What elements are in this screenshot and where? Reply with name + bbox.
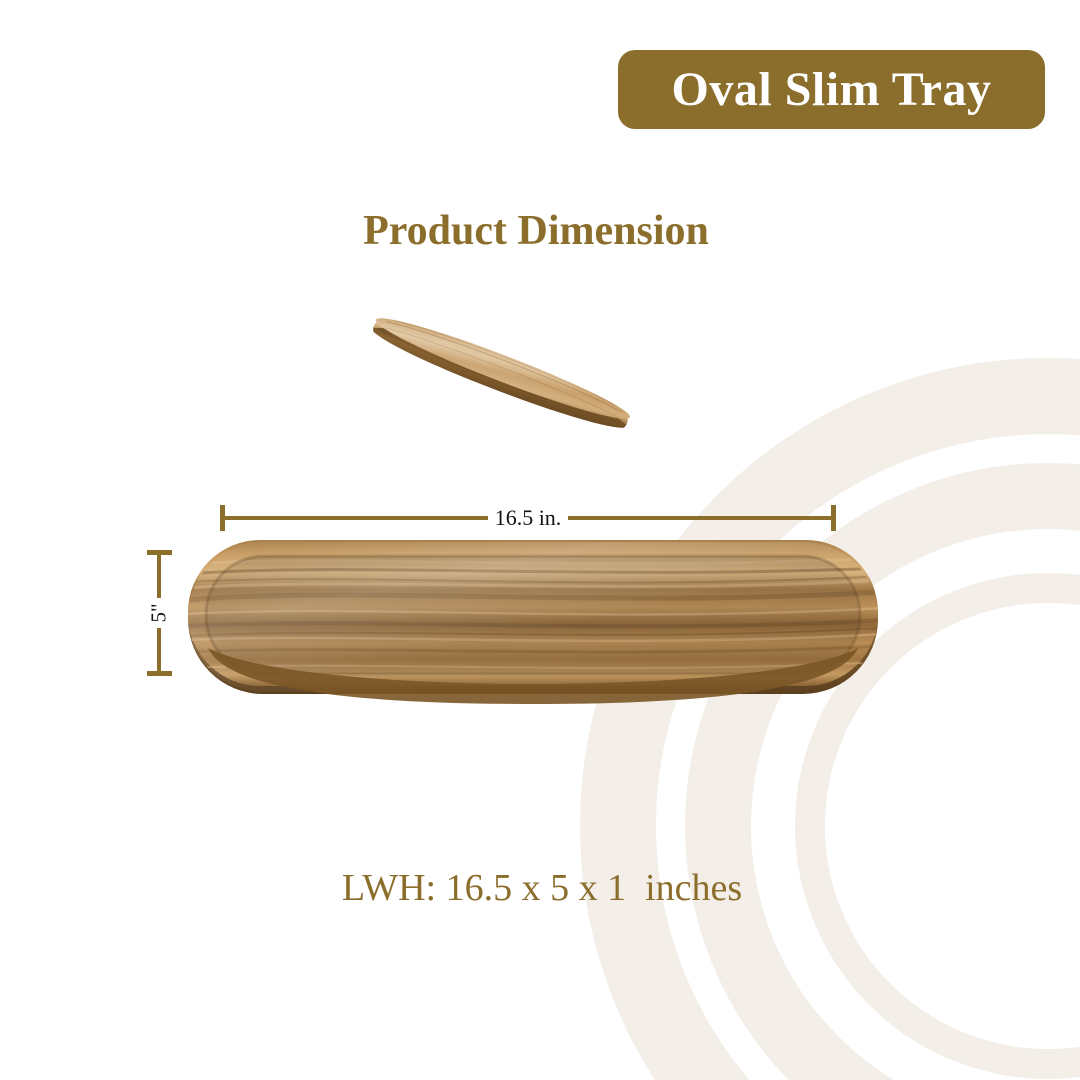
product-top-view-image	[178, 528, 888, 708]
arc-ring-outer	[618, 396, 1080, 1080]
dimension-height: 5"	[142, 548, 176, 678]
dimension-height-label: 5"	[147, 603, 172, 622]
spec-line: LWH: 16.5 x 5 x 1 inches	[0, 866, 1080, 912]
section-heading: Product Dimension	[0, 208, 1080, 254]
dimension-height-line-top	[157, 552, 161, 598]
title-badge-label: Oval Slim Tray	[672, 66, 992, 114]
section-heading-label: Product Dimension	[363, 208, 709, 254]
infographic-canvas: Oval Slim Tray Product Dimension	[0, 0, 1080, 1080]
title-badge: Oval Slim Tray	[618, 50, 1045, 129]
dimension-height-line-bottom	[157, 628, 161, 674]
dimension-height-cap-bottom	[147, 671, 172, 676]
product-side-view-image	[360, 296, 640, 456]
spec-line-label: LWH: 16.5 x 5 x 1 inches	[342, 866, 742, 912]
dimension-width-label: 16.5 in.	[218, 501, 838, 535]
dimension-width: 16.5 in.	[218, 500, 838, 536]
